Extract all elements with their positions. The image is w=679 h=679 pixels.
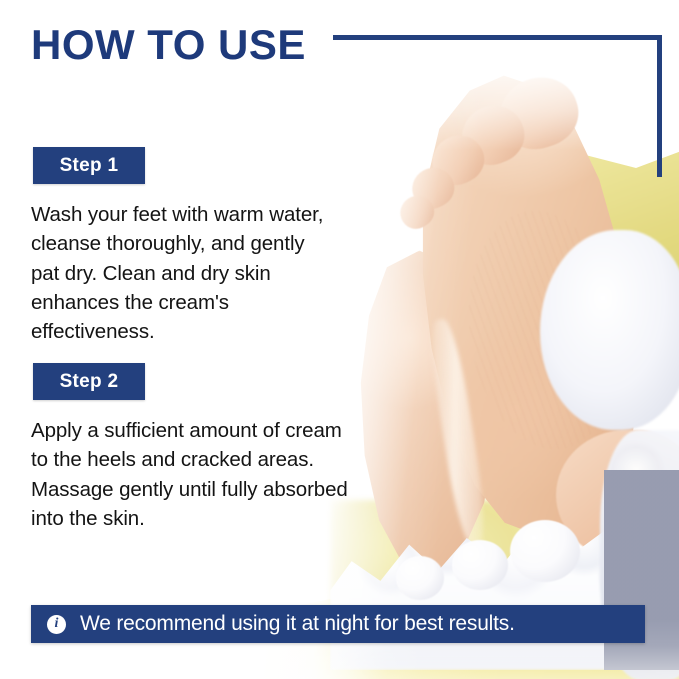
- step-2-badge: Step 2: [33, 363, 145, 400]
- recommendation-banner: i We recommend using it at night for bes…: [31, 605, 645, 643]
- step-1-body: Wash your feet with warm water, cleanse …: [31, 200, 431, 347]
- content-layer: HOW TO USE Step 1 Wash your feet with wa…: [0, 0, 679, 679]
- frame-line-vertical: [657, 35, 662, 177]
- recommendation-text: We recommend using it at night for best …: [80, 612, 515, 636]
- frame-line-horizontal: [333, 35, 662, 40]
- step-2-body: Apply a sufficient amount of cream to th…: [31, 416, 431, 533]
- how-to-use-poster: HOW TO USE Step 1 Wash your feet with wa…: [0, 0, 679, 679]
- page-title: HOW TO USE: [31, 24, 306, 66]
- step-1-badge: Step 1: [33, 147, 145, 184]
- info-icon: i: [47, 615, 66, 634]
